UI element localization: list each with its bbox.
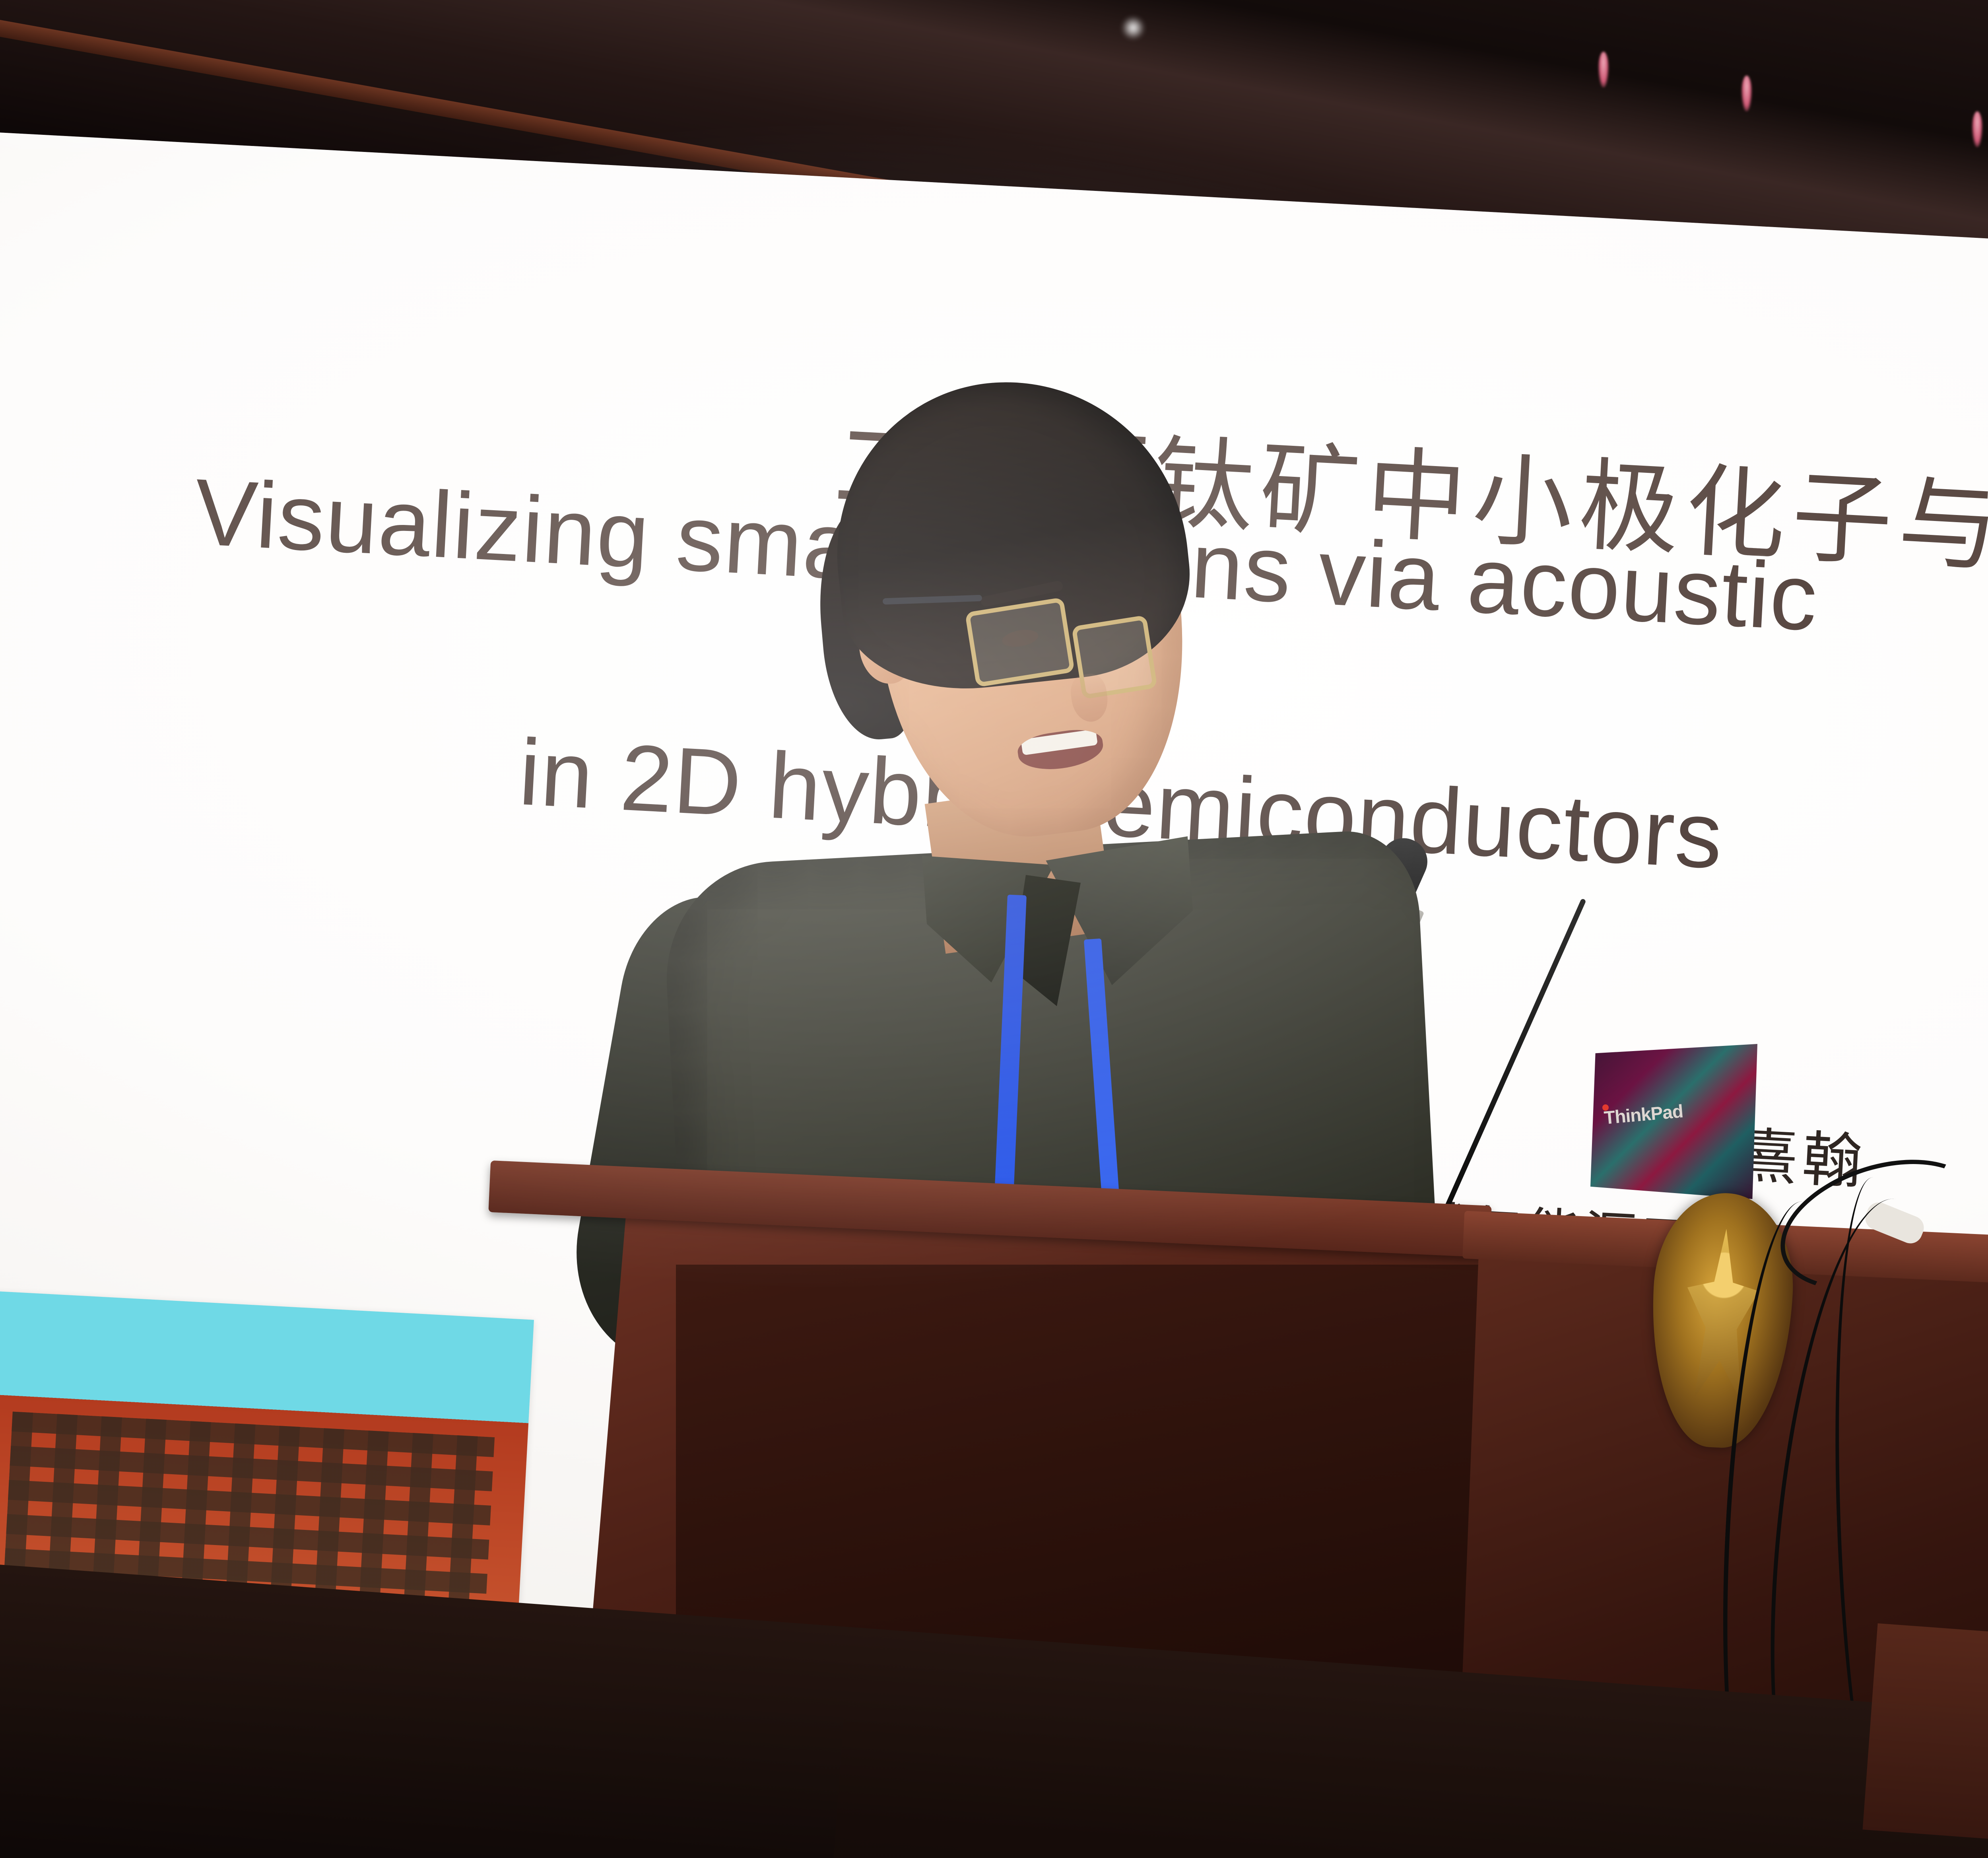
stage-rail: [1863, 1623, 1988, 1858]
presentation-photo: M 二维钙钛矿中小极化子与声学声子 Visualizing small pola…: [0, 0, 1988, 1858]
pink-downlight: [1741, 76, 1752, 111]
pink-downlight: [1972, 111, 1982, 147]
thinkpad-laptop: ThinkPad: [1590, 1044, 1757, 1199]
thinkpad-logo-text: ThinkPad: [1603, 1100, 1684, 1128]
glasses-left-lens: [965, 597, 1075, 688]
ceiling-spotlight-glow: [1121, 16, 1145, 40]
pink-downlight: [1598, 52, 1609, 87]
